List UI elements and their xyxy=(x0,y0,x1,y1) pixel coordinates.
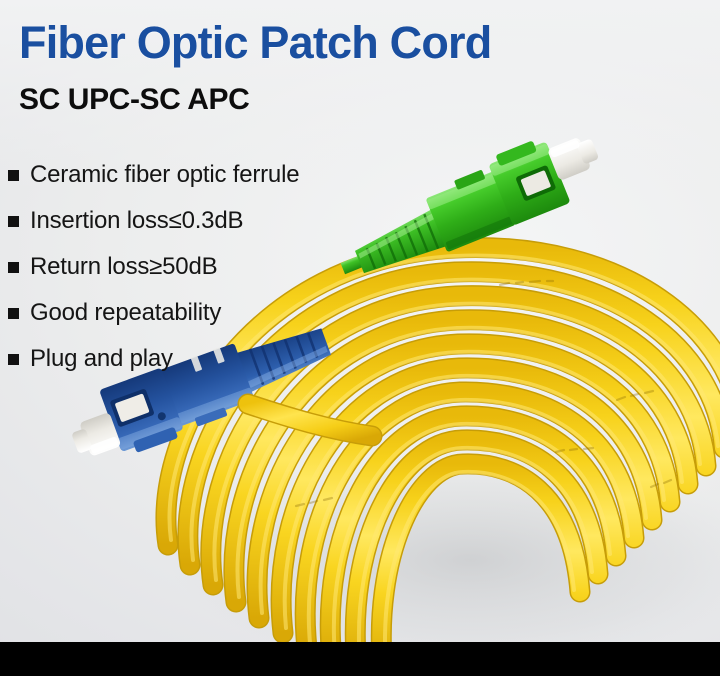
list-item: Plug and play xyxy=(8,336,299,382)
feature-label: Good repeatability xyxy=(30,299,221,327)
page-subtitle: SC UPC-SC APC xyxy=(19,83,249,117)
feature-list: Ceramic fiber optic ferrule Insertion lo… xyxy=(8,152,299,382)
list-item: Ceramic fiber optic ferrule xyxy=(8,152,299,198)
square-bullet-icon xyxy=(8,308,19,319)
list-item: Return loss≥50dB xyxy=(8,244,299,290)
feature-label: Insertion loss≤0.3dB xyxy=(30,207,243,235)
square-bullet-icon xyxy=(8,262,19,273)
bottom-letterbox-bar xyxy=(0,642,720,676)
square-bullet-icon xyxy=(8,216,19,227)
product-banner: Fiber Optic Patch Cord SC UPC-SC APC Cer… xyxy=(0,0,720,676)
feature-label: Return loss≥50dB xyxy=(30,253,217,281)
square-bullet-icon xyxy=(8,170,19,181)
feature-label: Ceramic fiber optic ferrule xyxy=(30,161,299,189)
square-bullet-icon xyxy=(8,354,19,365)
feature-label: Plug and play xyxy=(30,345,173,373)
page-title: Fiber Optic Patch Cord xyxy=(19,17,491,69)
list-item: Insertion loss≤0.3dB xyxy=(8,198,299,244)
list-item: Good repeatability xyxy=(8,290,299,336)
